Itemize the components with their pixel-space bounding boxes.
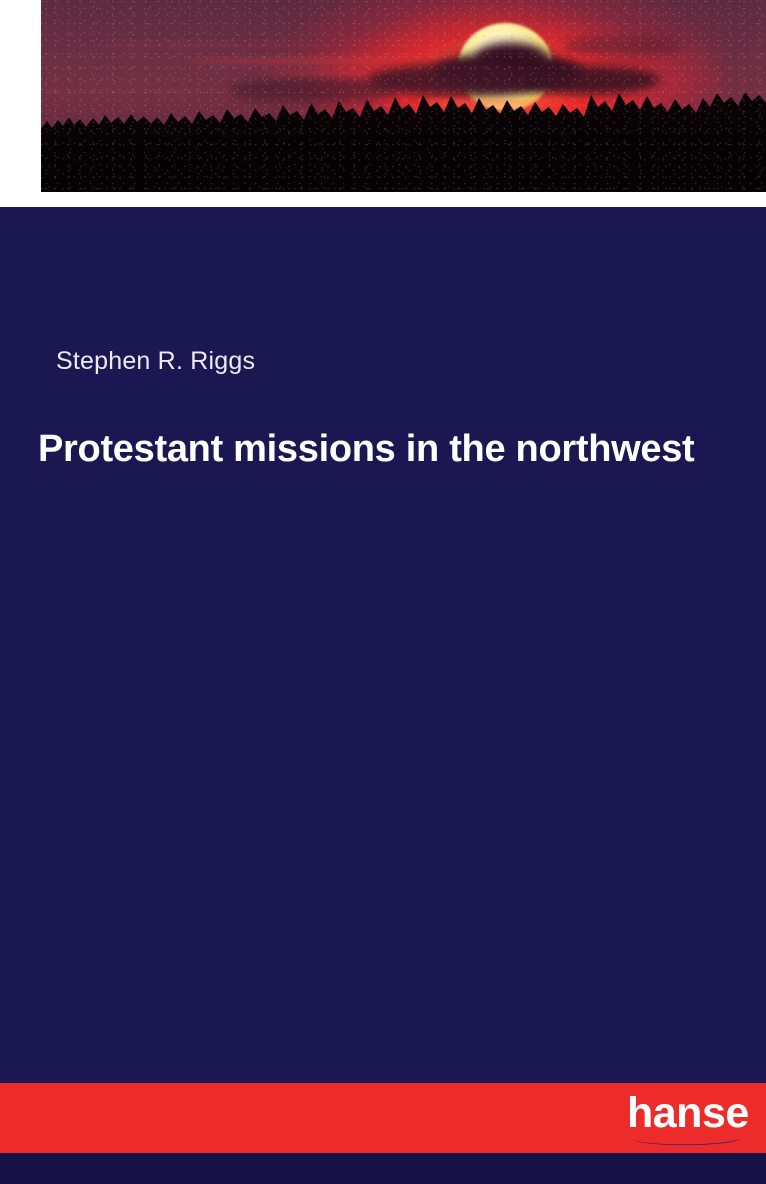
- book-title: Protestant missions in the northwest: [38, 427, 728, 473]
- author-name: Stephen R. Riggs: [56, 347, 255, 376]
- cloud-shape: [563, 35, 683, 57]
- book-cover: Stephen R. Riggs Protestant missions in …: [0, 0, 766, 1184]
- publisher-logo-text: hanse: [627, 1092, 749, 1135]
- sunset-photo: [41, 0, 766, 192]
- bottom-navy-strip: [0, 1153, 766, 1184]
- treeline-silhouette: [41, 87, 766, 192]
- hanse-swoosh-icon: [631, 1138, 743, 1147]
- publisher-logo: hanse: [627, 1092, 747, 1150]
